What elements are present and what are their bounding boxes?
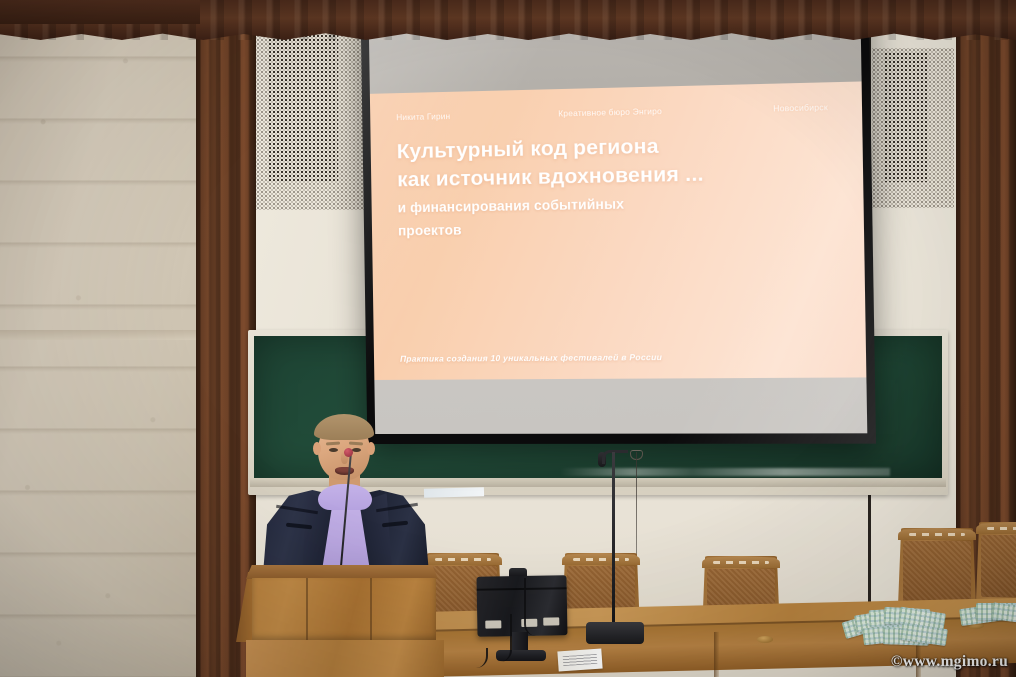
speaker-mouth — [335, 467, 354, 475]
lecture-hall-photo: Никита Гирин Креативное бюро Энгиро Ново… — [0, 0, 1016, 677]
podium-body — [252, 578, 436, 640]
paper-note-on-desk — [557, 648, 602, 671]
fanned-leaflets-right — [960, 600, 1016, 630]
chair-upholstery — [903, 541, 971, 603]
monitor-cable-1 — [524, 578, 546, 636]
site-watermark: ©www.mgimo.ru — [891, 653, 1008, 671]
slide-agency-name: Креативное бюро Энгиро — [558, 107, 662, 119]
slide-subhead-line-1: и финансирования событийных — [398, 191, 836, 217]
monitor-cable-2 — [486, 614, 512, 662]
chair-crest-rail — [702, 556, 780, 568]
podium-panel-seam — [370, 578, 372, 640]
curtain-valance-left — [0, 0, 200, 24]
presentation-slide: Никита Гирин Креативное бюро Энгиро Ново… — [370, 82, 867, 381]
chair-upholstery — [981, 535, 1016, 597]
microphone-stand-pole — [612, 452, 615, 630]
microphone-boom-arm — [602, 450, 628, 464]
slide-meta-row: Никита Гирин Креативное бюро Энгиро Ново… — [396, 103, 834, 122]
desk-cable-grommet — [757, 636, 773, 643]
perforated-grille-left-inner — [268, 22, 338, 182]
slide-speaker-name: Никита Гирин — [396, 112, 450, 122]
speaker-eye-right — [352, 448, 361, 452]
fanned-leaflets-left — [843, 606, 953, 646]
chair-crest-rail — [976, 522, 1016, 534]
monitor-stand-neck — [512, 632, 528, 652]
microphone-stand-base — [586, 622, 644, 644]
podium-microphone-head — [344, 448, 353, 457]
podium-base — [246, 640, 444, 677]
stone-wall-ledge — [0, 330, 196, 340]
chalkboard-dust-smear — [560, 468, 890, 476]
slide-subhead-line-2: проектов — [398, 215, 836, 240]
projection-screen: Никита Гирин Креативное бюро Энгиро Ново… — [361, 0, 876, 444]
speaker-ear-left — [313, 442, 321, 455]
chair-crest-rail — [898, 528, 976, 540]
speaker-eye-left — [329, 448, 338, 452]
desk-panel-seam — [714, 632, 719, 677]
monitor-vent-ridge — [477, 587, 567, 591]
floor-cable — [440, 648, 488, 668]
podium-panel-seam — [306, 578, 308, 640]
chair-crest-rail — [562, 553, 640, 565]
slide-city-name: Новосибирск — [773, 103, 828, 114]
perforated-grille-right-inner — [884, 52, 928, 182]
podium-top-surface — [246, 565, 438, 579]
projection-screen-surface: Никита Гирин Креативное бюро Энгиро Ново… — [369, 7, 868, 434]
slide-footer-text: Практика создания 10 уникальных фестивал… — [400, 351, 838, 364]
speaker-hair — [314, 414, 374, 440]
speaker-ear-right — [367, 442, 375, 455]
